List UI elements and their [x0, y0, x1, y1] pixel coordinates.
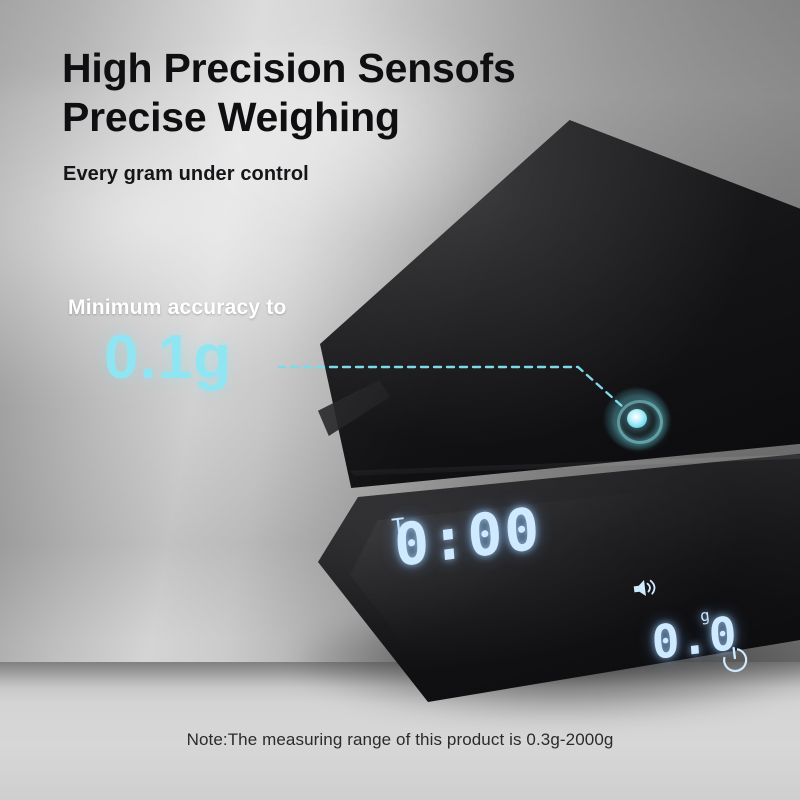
sensor-touch-point-icon — [604, 388, 670, 450]
headline-line-1: High Precision Sensofs — [62, 44, 622, 93]
accuracy-value: 0.1g — [104, 327, 232, 389]
footnote: Note:The measuring range of this product… — [0, 730, 800, 750]
sensor-core-dot — [627, 409, 647, 428]
speaker-icon — [631, 576, 659, 599]
subheadline: Every gram under control — [63, 163, 309, 186]
headline-line-2: Precise Weighing — [62, 93, 622, 142]
scale-weighing-platform — [320, 120, 800, 520]
power-icon — [718, 642, 751, 675]
page-title: High Precision Sensofs Precise Weighing — [62, 44, 622, 142]
accuracy-label: Minimum accuracy to — [68, 296, 287, 320]
promo-image-scene: T 0:00 g 0.0 High Precision Sensofs Prec… — [0, 0, 800, 800]
